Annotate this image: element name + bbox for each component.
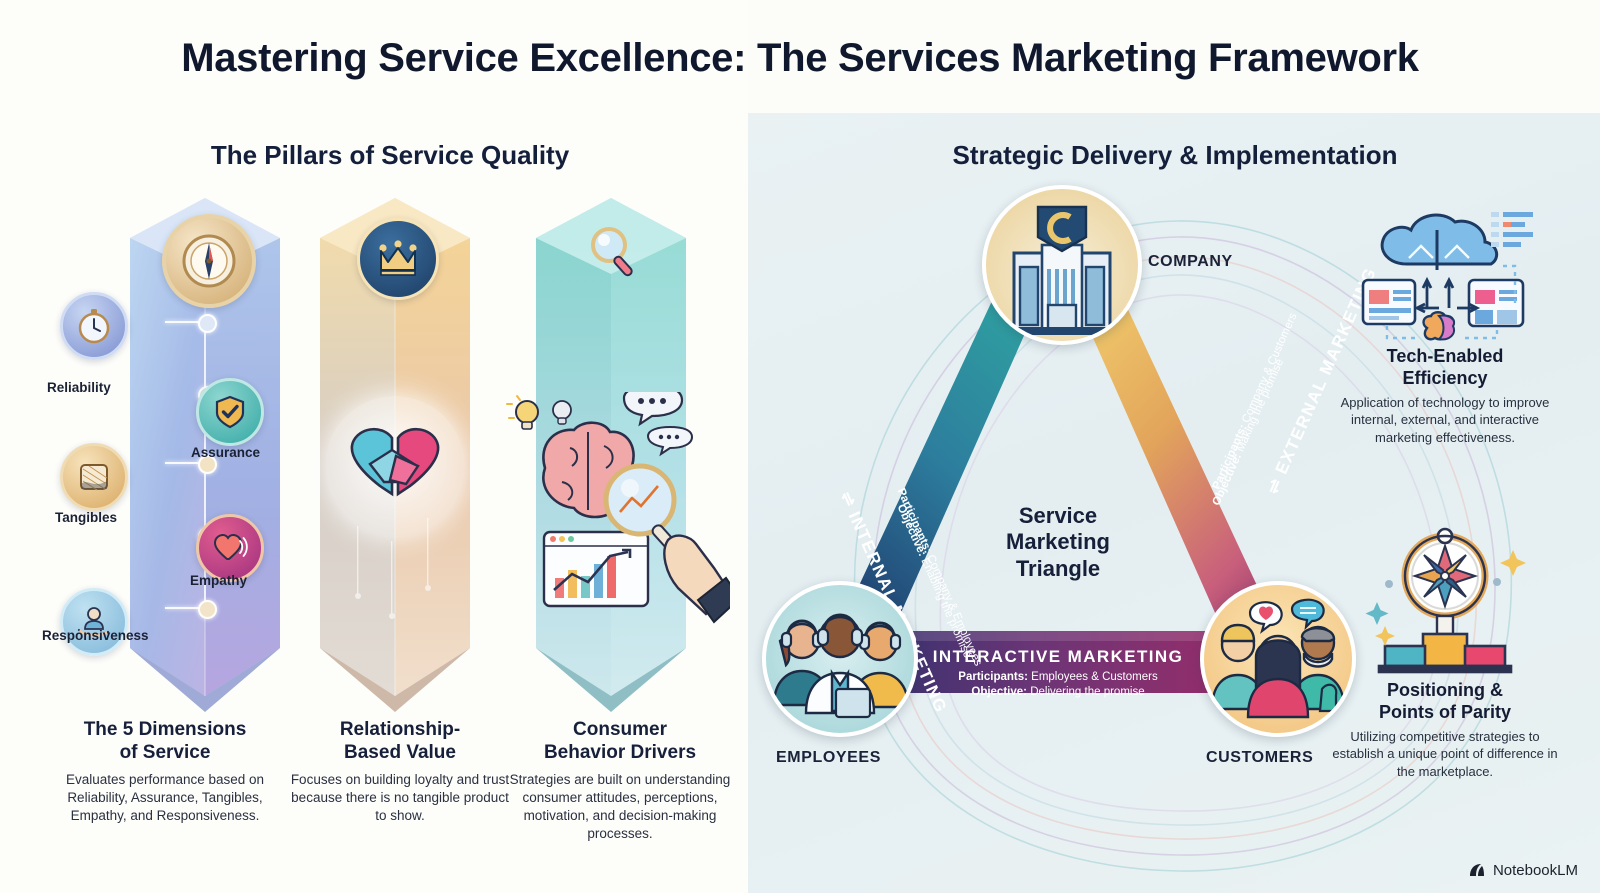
- stopwatch-icon: [60, 292, 128, 360]
- service-marketing-triangle: ⇌INTERNAL MARKETING Participants: Compan…: [748, 113, 1368, 893]
- dimension-label-assurance: Assurance: [191, 445, 260, 460]
- dimension-label-responsiveness: Responsiveness: [42, 628, 149, 643]
- corner-label-employees: EMPLOYEES: [776, 749, 881, 767]
- pillar-caption-3: Consumer Behavior Drivers Strategies are…: [500, 718, 740, 843]
- side-card-title-2: Positioning &Points of Parity: [1330, 680, 1560, 723]
- compass-podium-icon: [1345, 520, 1545, 680]
- pillar-title-line1: Consumer: [573, 719, 667, 740]
- pillar-five-dimensions: [110, 196, 300, 726]
- pillar-title-line1: The 5 Dimensions: [84, 719, 247, 740]
- compass-icon: [162, 214, 256, 308]
- crown-icon: [357, 218, 439, 300]
- dimension-label-tangibles: Tangibles: [55, 510, 117, 525]
- side-card-title-1: Tech-EnabledEfficiency: [1330, 346, 1560, 389]
- speech-bubbles: [624, 392, 692, 454]
- pillar-title-line2: Behavior Drivers: [544, 742, 696, 763]
- analytics-window: [544, 532, 648, 606]
- pillar-caption-2: Relationship- Based Value Focuses on bui…: [290, 718, 510, 825]
- dimension-label-empathy: Empathy: [190, 573, 247, 588]
- pillar-title-line2: Based Value: [344, 742, 456, 763]
- corner-label-customers: CUSTOMERS: [1206, 749, 1313, 767]
- pillar-body-1: Evaluates performance based on Reliabili…: [50, 771, 280, 825]
- infographic-canvas: Mastering Service Excellence: The Servic…: [0, 0, 1600, 893]
- corner-label-company: COMPANY: [1148, 253, 1233, 271]
- triangle-center-title: Service Marketing Triangle: [948, 503, 1168, 582]
- hand-icon: [664, 536, 730, 622]
- lightbulb-group: [507, 396, 571, 429]
- heart-pulse-icon: [196, 514, 264, 582]
- side-card-body-1: Application of technology to improve int…: [1330, 394, 1560, 445]
- side-card-body-2: Utilizing competitive strategies to esta…: [1330, 728, 1560, 779]
- notebooklm-icon: [1467, 861, 1486, 880]
- notebooklm-watermark: NotebookLM: [1467, 861, 1578, 880]
- page-title: Mastering Service Excellence: The Servic…: [0, 36, 1600, 81]
- pillar-consumer-behavior: [516, 196, 706, 726]
- shield-check-icon: [196, 378, 264, 446]
- cloud-tech-icon: [1345, 196, 1545, 346]
- side-card-positioning: Positioning &Points of Parity Utilizing …: [1330, 520, 1560, 780]
- magnifier-icon: [578, 216, 650, 288]
- hand-person-icon: [60, 588, 128, 656]
- left-section-title: The Pillars of Service Quality: [40, 140, 740, 171]
- pillar-title-line1: Relationship-: [340, 719, 460, 740]
- pillar-caption-1: The 5 Dimensions of Service Evaluates pe…: [50, 718, 280, 825]
- watermark-label: NotebookLM: [1493, 862, 1578, 879]
- company-building-icon: [982, 185, 1142, 345]
- pillar-body-3: Strategies are built on understanding co…: [500, 771, 740, 843]
- employees-icon: [762, 581, 918, 737]
- pillar-relationship-value: [300, 196, 490, 726]
- pillar-title-line2: of Service: [120, 742, 211, 763]
- texture-swatch-icon: [60, 443, 128, 511]
- handshake-icon: [336, 407, 454, 525]
- side-card-tech-efficiency: Tech-EnabledEfficiency Application of te…: [1330, 196, 1560, 446]
- dimension-label-reliability: Reliability: [47, 380, 111, 395]
- pillar-body-2: Focuses on building loyalty and trust be…: [290, 771, 510, 825]
